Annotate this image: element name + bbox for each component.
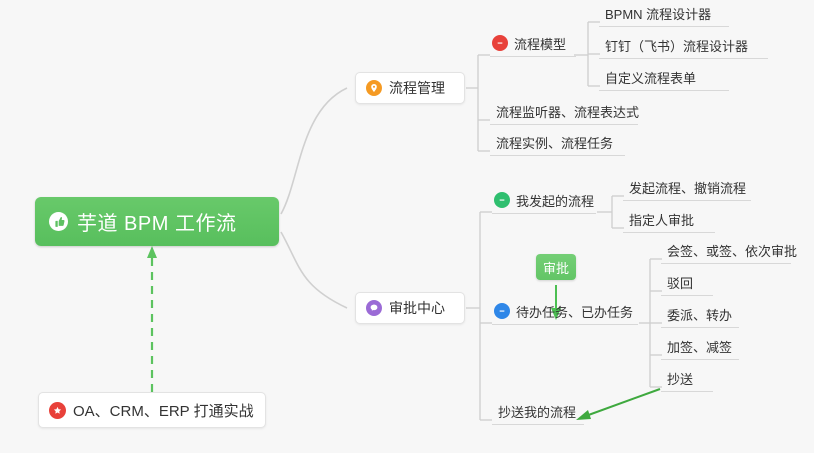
root-label: 芋道 BPM 工作流	[77, 207, 236, 236]
footnote-label: OA、CRM、ERP 打通实战	[73, 400, 254, 421]
location-pin-icon	[366, 80, 382, 96]
node-label: 委派、转办	[667, 305, 732, 324]
node-daiban-yiban[interactable]: 待办任务、已办任务	[492, 303, 638, 325]
node-bohui[interactable]: 驳回	[661, 274, 713, 296]
message-circle-icon	[366, 300, 382, 316]
node-zhidingren-shenpi[interactable]: 指定人审批	[623, 211, 715, 233]
minus-circle-icon	[494, 303, 510, 319]
node-label: 加签、减签	[667, 337, 732, 356]
node-label: 自定义流程表单	[605, 68, 696, 87]
node-label: 流程模型	[514, 34, 566, 53]
node-faqi-chexiao[interactable]: 发起流程、撤销流程	[623, 179, 751, 201]
star-circle-icon	[49, 402, 66, 419]
node-liuchengmoxing[interactable]: 流程模型	[490, 35, 576, 57]
node-label: 钉钉（飞书）流程设计器	[605, 36, 748, 55]
node-shenpizhongxin[interactable]: 审批中心	[355, 292, 465, 324]
node-label: 发起流程、撤销流程	[629, 178, 746, 197]
node-label: 流程管理	[389, 78, 445, 98]
tag-label: 审批	[543, 258, 569, 277]
root-node[interactable]: 芋道 BPM 工作流	[35, 197, 279, 246]
node-chaosong[interactable]: 抄送	[661, 370, 713, 392]
tag-shenpi[interactable]: 审批	[536, 254, 576, 280]
node-weipai-zhuanban[interactable]: 委派、转办	[661, 306, 739, 328]
node-label: 流程实例、流程任务	[496, 133, 613, 152]
node-label: 抄送	[667, 369, 693, 388]
minus-circle-icon	[492, 35, 508, 51]
node-label: 审批中心	[389, 298, 445, 318]
node-bpmn-designer[interactable]: BPMN 流程设计器	[599, 5, 729, 27]
node-label: 指定人审批	[629, 210, 694, 229]
thumbs-up-icon	[49, 212, 68, 231]
minus-circle-icon	[494, 192, 510, 208]
node-label: 流程监听器、流程表达式	[496, 102, 639, 121]
node-huiqian-huoqian[interactable]: 会签、或签、依次审批	[661, 242, 791, 264]
node-label: 抄送我的流程	[498, 402, 576, 421]
node-chaosong-wode-liucheng[interactable]: 抄送我的流程	[492, 403, 584, 425]
node-liuchengguanli[interactable]: 流程管理	[355, 72, 465, 104]
node-label: 驳回	[667, 273, 693, 292]
node-listener-expression[interactable]: 流程监听器、流程表达式	[490, 103, 638, 125]
node-wofaqide-liucheng[interactable]: 我发起的流程	[492, 192, 596, 214]
node-custom-form[interactable]: 自定义流程表单	[599, 69, 729, 91]
node-label: 我发起的流程	[516, 191, 594, 210]
mindmap-canvas: 芋道 BPM 工作流 流程管理 流程模型 BPMN 流程设计器 钉钉（飞书）流程…	[0, 0, 814, 453]
footnote-card[interactable]: OA、CRM、ERP 打通实战	[38, 392, 266, 428]
node-dingtalk-designer[interactable]: 钉钉（飞书）流程设计器	[599, 37, 768, 59]
node-label: 会签、或签、依次审批	[667, 241, 797, 260]
node-instance-task[interactable]: 流程实例、流程任务	[490, 134, 625, 156]
node-jiaqian-jianqian[interactable]: 加签、减签	[661, 338, 739, 360]
node-label: 待办任务、已办任务	[516, 302, 633, 321]
node-label: BPMN 流程设计器	[605, 4, 711, 23]
